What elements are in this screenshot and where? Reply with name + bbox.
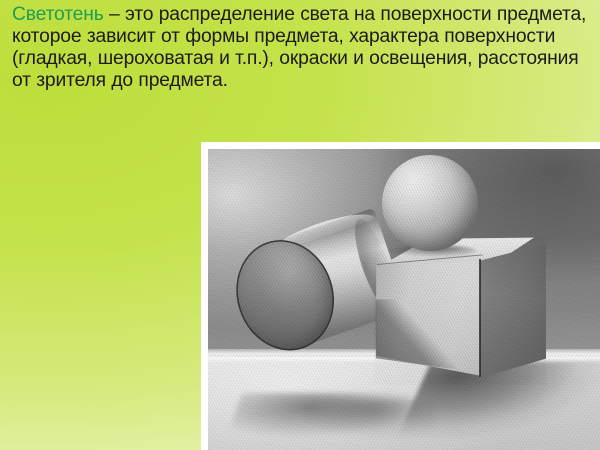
- slide-canvas: Светотень – это распределение света на п…: [0, 0, 600, 450]
- cube-vertical-edge: [479, 259, 481, 377]
- sphere-grain: [382, 155, 478, 251]
- illustration-frame: [201, 142, 600, 450]
- cube-right-face: [480, 241, 546, 381]
- cube-front-shadow: [304, 399, 434, 441]
- cube-left-face-shading: [374, 297, 466, 381]
- definition-text: Светотень – это распределение света на п…: [12, 4, 590, 92]
- term-svetoten: Светотень: [12, 4, 104, 25]
- sphere-shape: [382, 155, 478, 251]
- cube-shape: [374, 237, 546, 385]
- still-life-drawing: [208, 149, 600, 450]
